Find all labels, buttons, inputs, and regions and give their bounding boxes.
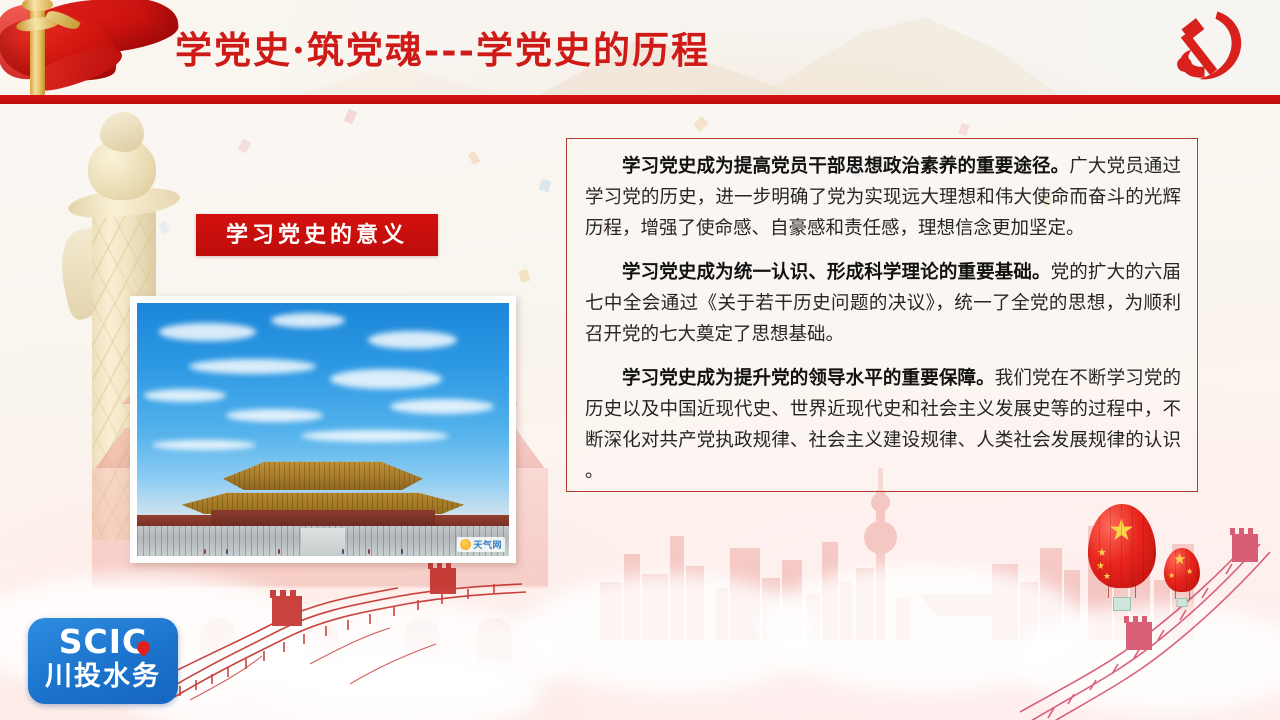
confetti bbox=[693, 116, 709, 132]
watermark-text: 天气网 bbox=[473, 538, 502, 551]
header-accent-bar bbox=[0, 95, 1280, 104]
balloon-small: ★ ★ ★ bbox=[1164, 548, 1200, 592]
great-wall-icon bbox=[150, 544, 530, 704]
confetti bbox=[344, 109, 358, 125]
cpc-hammer-sickle-emblem bbox=[1164, 6, 1256, 90]
content-photo: 天气网 bbox=[130, 296, 516, 563]
slide-header: 学党史·筑党魂---学党史的历程 bbox=[0, 0, 1280, 95]
paragraph-2-lead: 学习党史成为统一认识、形成科学理论的重要基础。 bbox=[622, 262, 1051, 283]
photo-watermark: 天气网 bbox=[457, 537, 505, 552]
company-logo: SCIC 川投水务 bbox=[28, 618, 178, 704]
confetti bbox=[467, 151, 480, 165]
paragraph-3-lead: 学习党史成为提升党的领导水平的重要保障。 bbox=[622, 368, 995, 389]
confetti bbox=[539, 179, 552, 192]
hot-air-balloon-icon: ★ ★ ★ ★ ★ ★ ★ bbox=[1080, 504, 1280, 684]
section-label: 学习党史的意义 bbox=[196, 214, 438, 256]
forbidden-city-photo: 天气网 bbox=[137, 303, 509, 556]
paragraph-2: 学习党史成为统一认识、形成科学理论的重要基础。党的扩大的六届七中全会通过《关于若… bbox=[585, 257, 1181, 350]
watermark-sun-icon bbox=[460, 539, 471, 550]
balloon-large: ★ ★ ★ ★ bbox=[1088, 504, 1156, 588]
logo-text-cn: 川投水务 bbox=[28, 660, 178, 694]
logo-text-scic: SCIC bbox=[28, 624, 178, 660]
confetti bbox=[518, 269, 530, 283]
paragraph-3: 学习党史成为提升党的领导水平的重要保障。我们党在不断学习党的历史以及中国近现代史… bbox=[585, 363, 1181, 487]
confetti bbox=[958, 123, 969, 136]
confetti bbox=[238, 139, 252, 154]
content-textbox: 学习党史成为提高党员干部思想政治素养的重要途径。广大党员通过学习党的历史，进一步… bbox=[566, 138, 1198, 492]
paragraph-1-lead: 学习党史成为提高党员干部思想政治素养的重要途径。 bbox=[622, 156, 1069, 177]
page-title: 学党史·筑党魂---学党史的历程 bbox=[175, 24, 875, 76]
red-flag-icon bbox=[0, 0, 184, 95]
slide-root: 中华人民共和国万岁 bbox=[0, 0, 1280, 720]
paragraph-1: 学习党史成为提高党员干部思想政治素养的重要途径。广大党员通过学习党的历史，进一步… bbox=[585, 151, 1181, 244]
